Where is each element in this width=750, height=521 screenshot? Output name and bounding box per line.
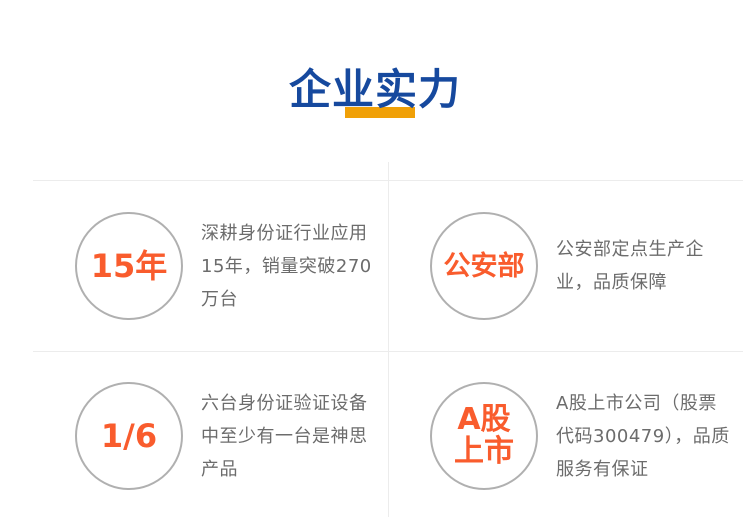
badge-label: 公安部: [444, 249, 525, 284]
badge-circle-ratio: 1/6: [75, 382, 183, 490]
enterprise-strength-page: 企业实力 15年 深耕身份证行业应用15年，销量突破270万台 公安部 公安部定…: [0, 0, 750, 516]
page-title-text: 企业实力: [289, 65, 461, 114]
badge-label-line-1: A股: [457, 404, 510, 436]
page-title: 企业实力: [289, 62, 461, 118]
badge-circle-listed: A股 上市: [430, 382, 538, 490]
badge-circle-years: 15年: [75, 212, 183, 320]
strength-cards-grid: 15年 深耕身份证行业应用15年，销量突破270万台 公安部 公安部定点生产企业…: [33, 180, 743, 517]
badge-circle-ministry: 公安部: [430, 212, 538, 320]
badge-label-line-2: 上市: [454, 436, 514, 468]
strength-card-years: 15年 深耕身份证行业应用15年，销量突破270万台: [33, 181, 388, 351]
page-title-container: 企业实力: [0, 62, 750, 122]
card-description-years: 深耕身份证行业应用15年，销量突破270万台: [201, 217, 380, 316]
badge-label: 15年: [91, 249, 168, 284]
card-description-ratio: 六台身份证验证设备中至少有一台是神思产品: [201, 387, 380, 486]
badge-label: 1/6: [101, 419, 157, 454]
card-description-ministry: 公安部定点生产企业，品质保障: [556, 233, 735, 299]
card-description-listed: A股上市公司（股票代码300479），品质服务有保证: [556, 387, 735, 486]
strength-card-listed: A股 上市 A股上市公司（股票代码300479），品质服务有保证: [388, 351, 743, 521]
strength-card-ministry: 公安部 公安部定点生产企业，品质保障: [388, 181, 743, 351]
strength-card-ratio: 1/6 六台身份证验证设备中至少有一台是神思产品: [33, 351, 388, 521]
